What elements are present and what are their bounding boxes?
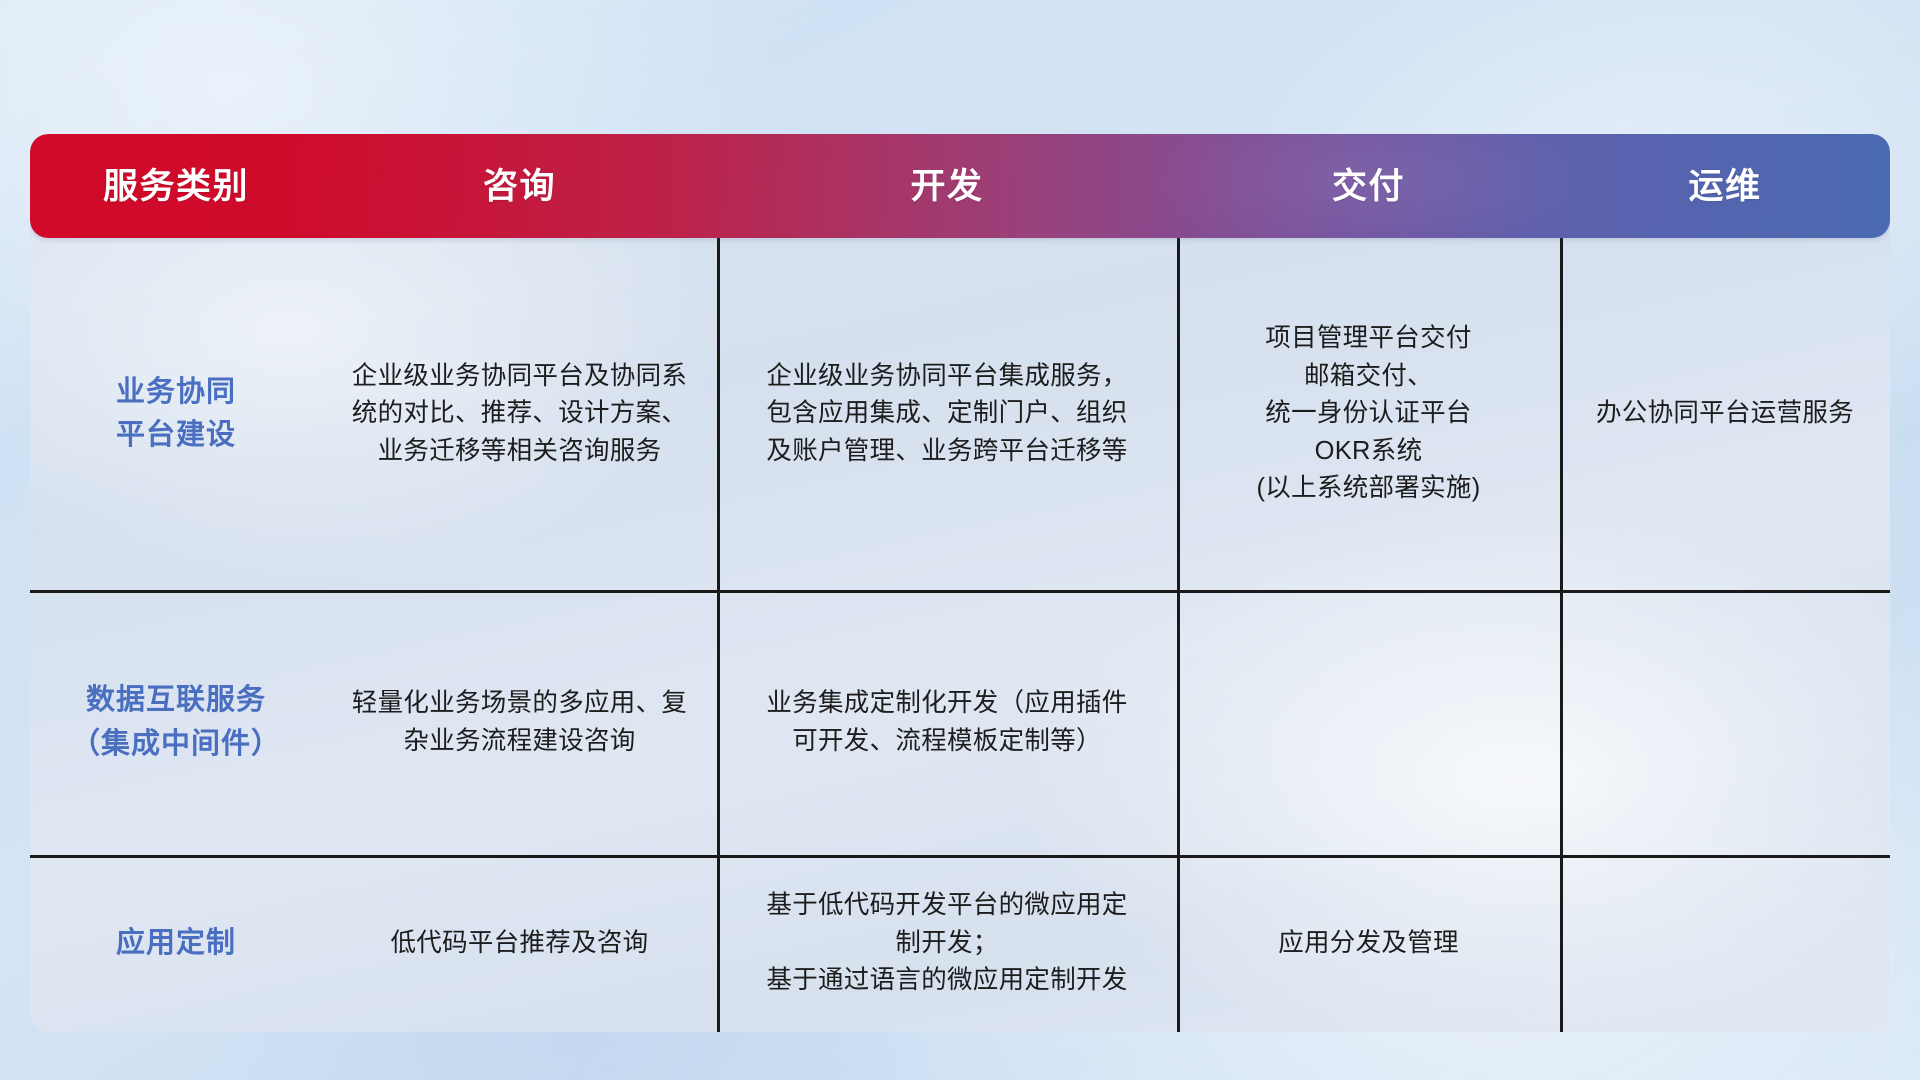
cell-consulting-r2: 轻量化业务场景的多应用、复 杂业务流程建设咨询 <box>322 590 717 855</box>
column-header-delivery: 交付 <box>1177 169 1560 204</box>
table-header-row: 服务类别 咨询 开发 交付 运维 <box>30 134 1890 238</box>
cell-consulting-r1: 企业级业务协同平台及协同系 统的对比、推荐、设计方案、 业务迁移等相关咨询服务 <box>322 238 717 590</box>
cell-operations-r1: 办公协同平台运营服务 <box>1560 238 1890 590</box>
row-divider-2 <box>30 855 1890 858</box>
cell-operations-r2 <box>1560 590 1890 855</box>
column-divider-delivery-operations <box>1560 238 1563 1032</box>
cell-development-r1: 企业级业务协同平台集成服务， 包含应用集成、定制门户、组织 及账户管理、业务跨平… <box>717 238 1177 590</box>
cell-operations-r3 <box>1560 855 1890 1032</box>
table-row: 应用定制 低代码平台推荐及咨询 <box>30 855 717 1032</box>
cell-category-r3: 应用定制 <box>30 855 322 1032</box>
table-card: 服务类别 咨询 开发 交付 运维 业务协同 平台建设 企业级业务协同平台及协同系… <box>30 134 1890 1032</box>
cell-development-r3: 基于低代码开发平台的微应用定 制开发； 基于通过语言的微应用定制开发 <box>717 855 1177 1032</box>
cell-delivery-r3: 应用分发及管理 <box>1177 855 1560 1032</box>
row-divider-1 <box>30 590 1890 593</box>
cell-consulting-r3: 低代码平台推荐及咨询 <box>322 855 717 1032</box>
column-header-development: 开发 <box>717 169 1177 204</box>
column-header-category: 服务类别 <box>30 169 322 204</box>
column-header-operations: 运维 <box>1560 169 1890 204</box>
cell-development-r2: 业务集成定制化开发（应用插件 可开发、流程模板定制等） <box>717 590 1177 855</box>
column-header-consulting: 咨询 <box>322 169 717 204</box>
column-divider-development-delivery <box>1177 238 1180 1032</box>
cell-category-r2: 数据互联服务 （集成中间件） <box>30 590 322 855</box>
service-matrix-table: 服务类别 咨询 开发 交付 运维 业务协同 平台建设 企业级业务协同平台及协同系… <box>30 134 1890 1032</box>
table-body: 业务协同 平台建设 企业级业务协同平台及协同系 统的对比、推荐、设计方案、 业务… <box>30 238 1890 1032</box>
column-divider-consulting-development <box>717 238 720 1032</box>
cell-category-r1: 业务协同 平台建设 <box>30 238 322 590</box>
table-row: 数据互联服务 （集成中间件） 轻量化业务场景的多应用、复 杂业务流程建设咨询 <box>30 590 717 855</box>
table-row: 业务协同 平台建设 企业级业务协同平台及协同系 统的对比、推荐、设计方案、 业务… <box>30 238 717 590</box>
cell-delivery-r2 <box>1177 590 1560 855</box>
cell-delivery-r1: 项目管理平台交付 邮箱交付、 统一身份认证平台 OKR系统 (以上系统部署实施) <box>1177 238 1560 590</box>
